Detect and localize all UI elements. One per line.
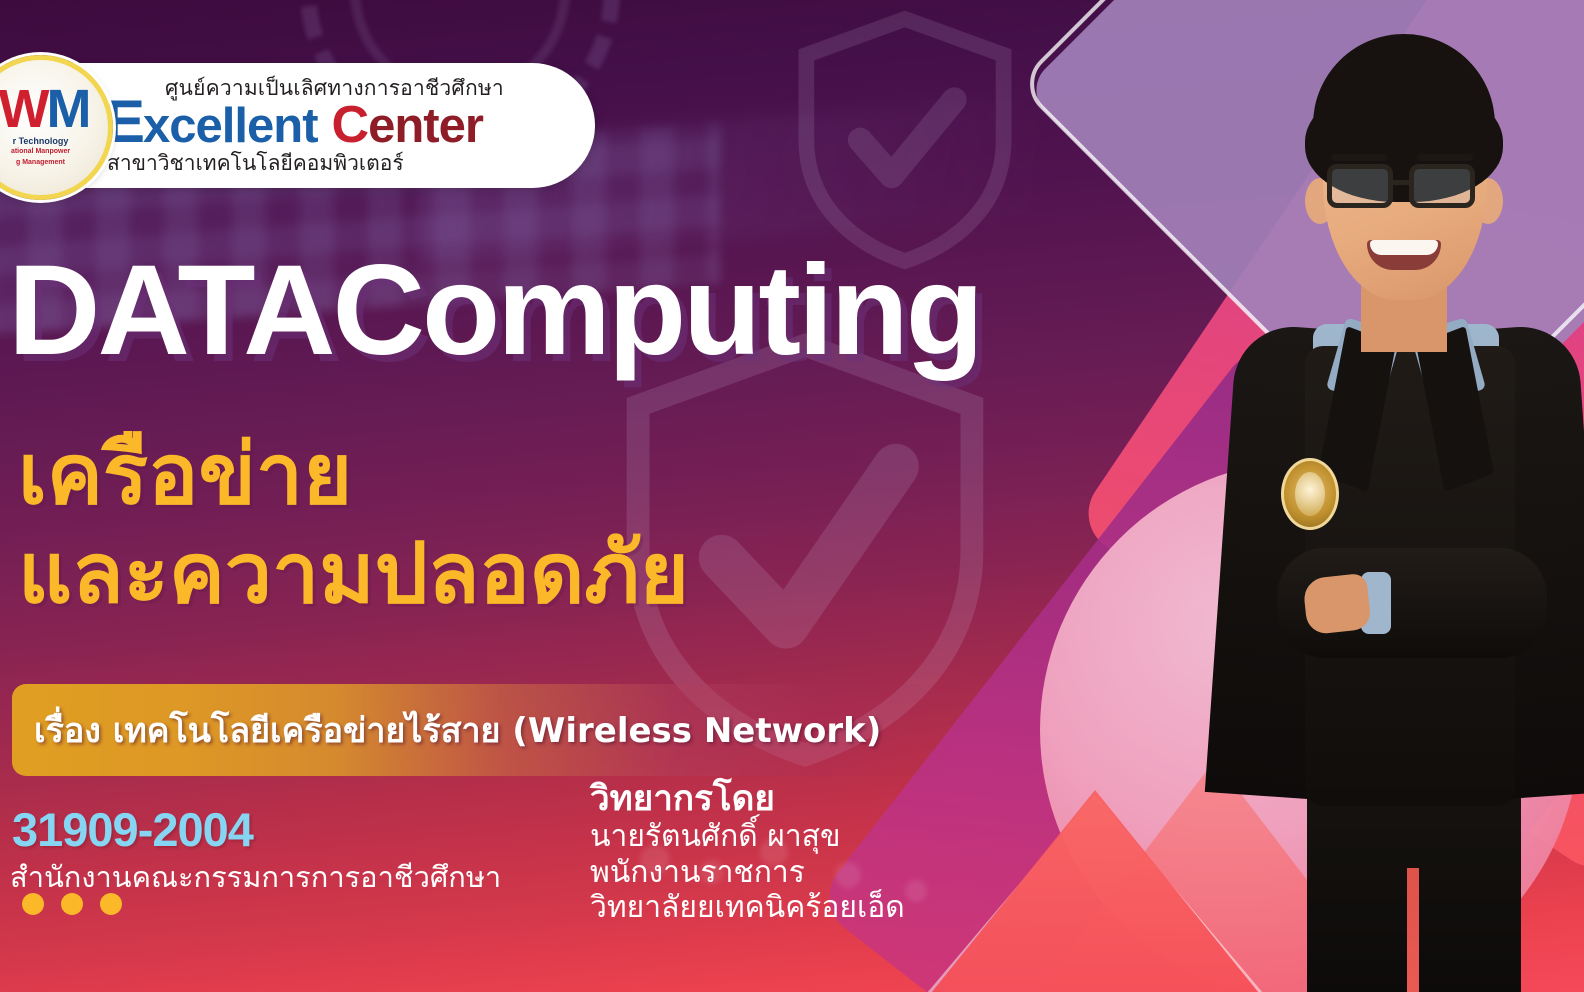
portrait-jacket-emblem-icon [1281,458,1339,530]
topic-label: เรื่อง เทคโนโลยีเครือข่ายไร้สาย (Wireles… [34,703,881,757]
dot-1 [22,893,44,915]
glasses-icon-bridge [1391,180,1413,185]
dot-3 [100,893,122,915]
glasses-icon-right-lens [1409,164,1475,208]
poster-root: ศูนย์ความเป็นเลิศทางการอาชีวศึกษา E xcel… [0,0,1584,992]
glasses-icon-left-lens [1327,164,1393,208]
portrait-eyebrow-left [1331,154,1387,161]
speaker-info-block: วิทยากรโดย นายรัตนศักดิ์ ผาสุข พนักงานรา… [590,780,905,925]
thai-headline: เครือข่าย และความปลอดภัย [18,425,689,623]
speaker-name: นายรัตนศักดิ์ ผาสุข [590,819,905,854]
speaker-heading: วิทยากรโดย [590,780,905,819]
speaker-institution: วิทยาลัยยเทคนิคร้อยเอ็ด [590,890,905,925]
portrait-teeth [1370,240,1438,255]
speaker-position: พนักงานราชการ [590,855,905,890]
portrait-leg-gap [1407,868,1419,992]
course-code: 31909-2004 [12,802,253,857]
thai-headline-line-2: และความปลอดภัย [18,524,689,623]
topic-banner: เรื่อง เทคโนโลยีเครือข่ายไร้สาย (Wireles… [12,684,962,776]
portrait-hand [1302,573,1372,635]
speaker-portrait [1185,28,1584,992]
portrait-eyebrow-right [1417,154,1473,161]
thai-headline-line-1: เครือข่าย [18,425,689,524]
dot-2 [61,893,83,915]
page-title: DATAComputing [8,247,981,375]
decorative-dots [22,893,122,915]
portrait-fringe [1317,72,1493,142]
